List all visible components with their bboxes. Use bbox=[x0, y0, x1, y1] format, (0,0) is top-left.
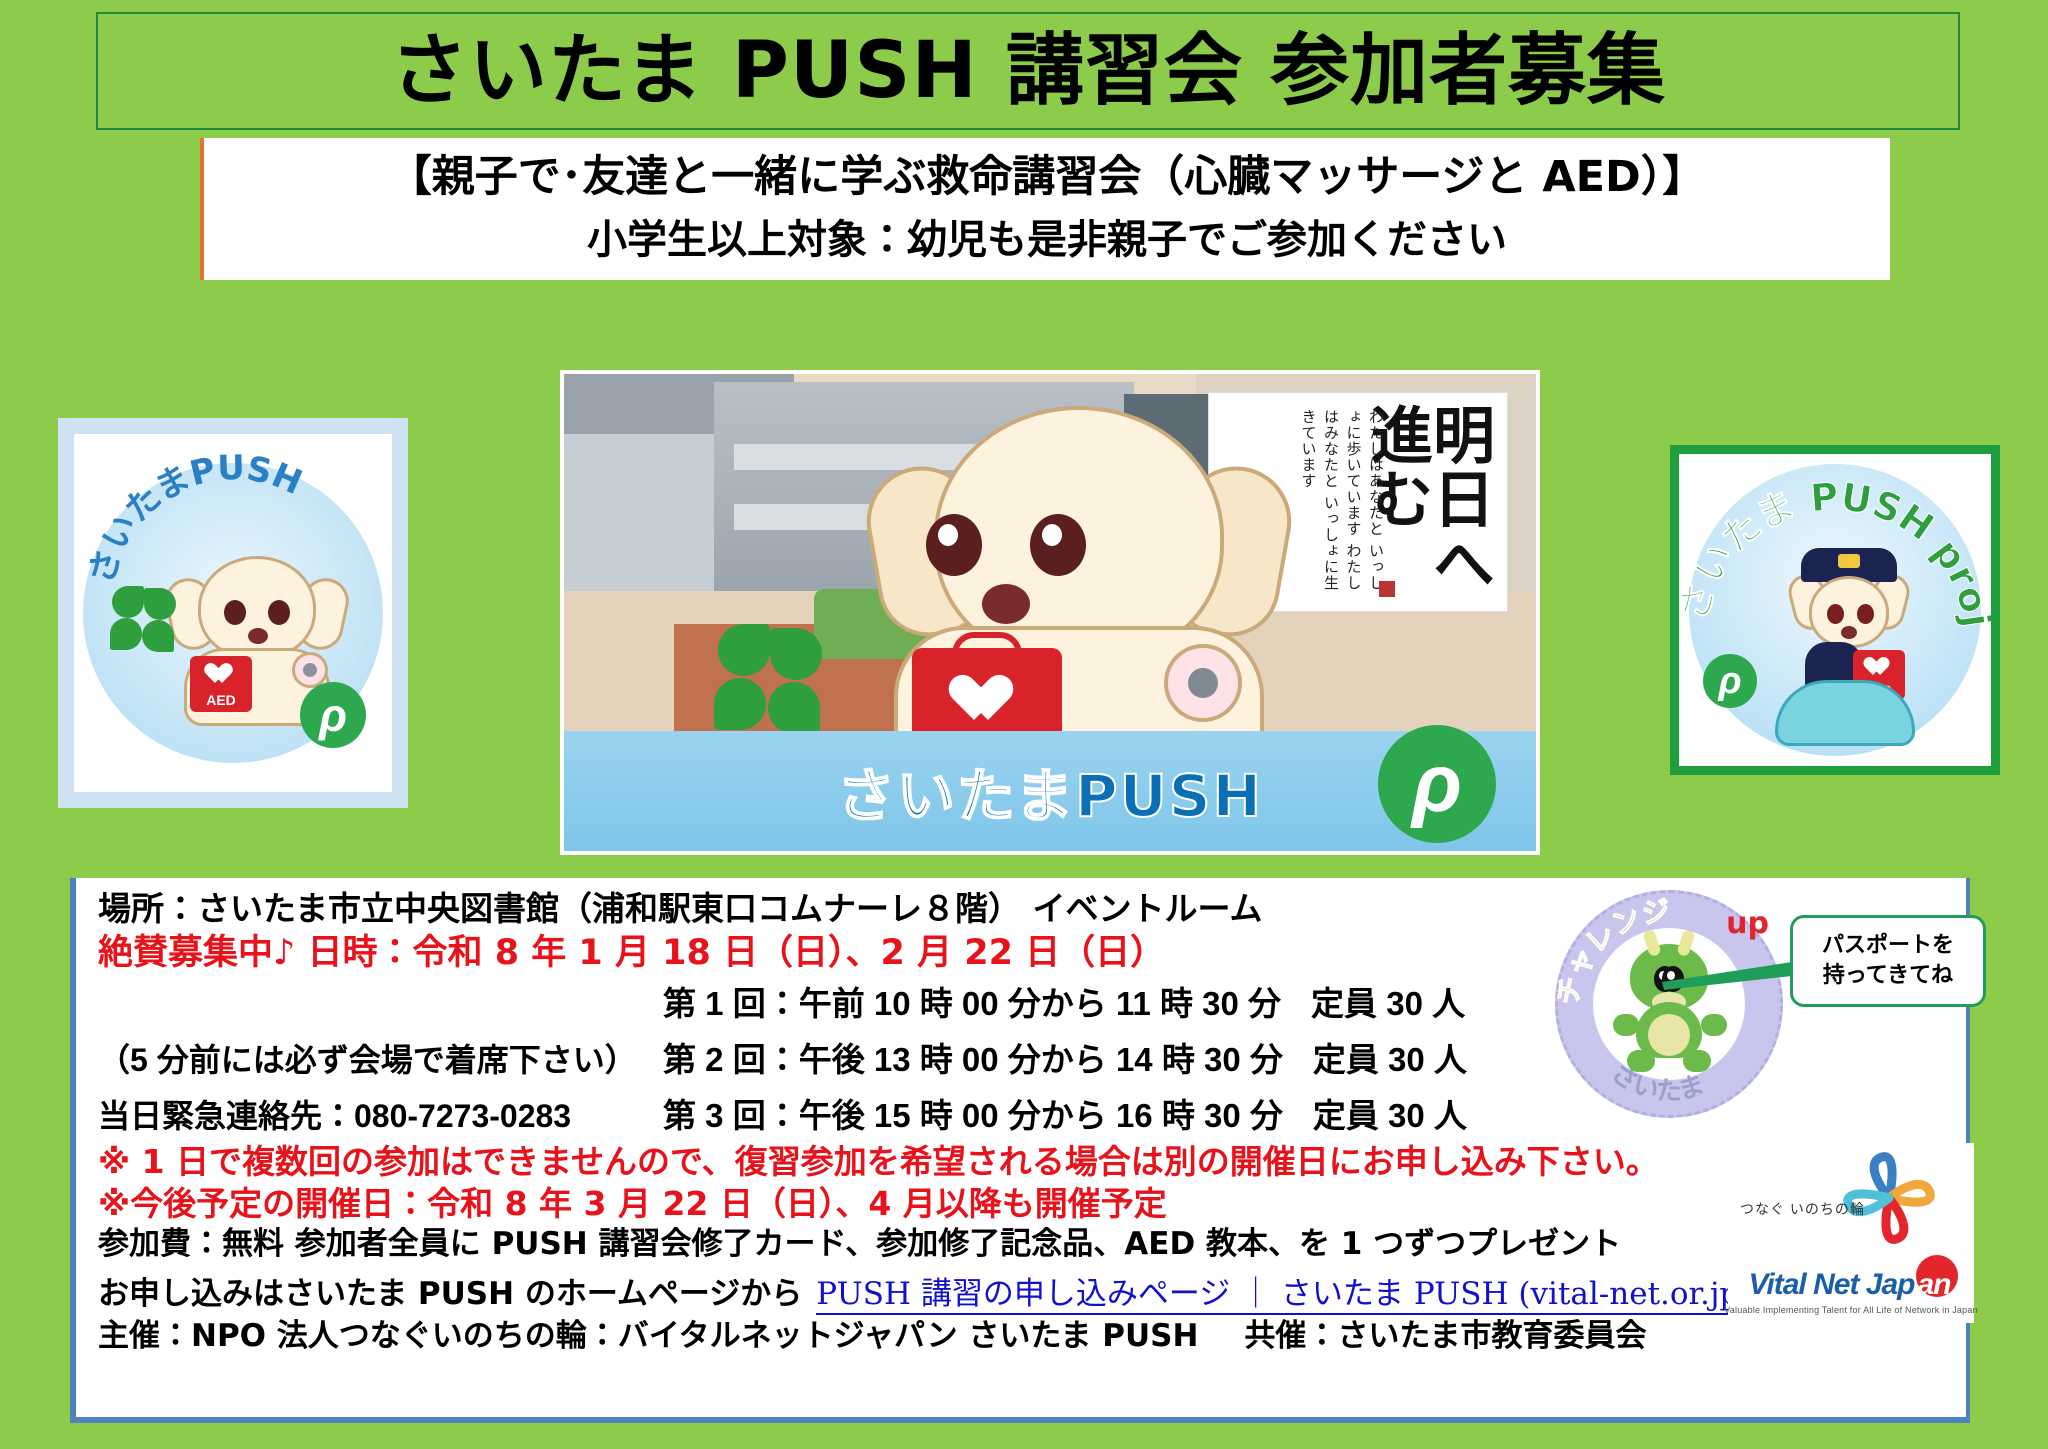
warning-line-2: ※今後予定の開催日：令和 8 年 3 月 22 日（日）、4 月以降も開催予定 bbox=[98, 1187, 1946, 1221]
push-p-logo-icon: ρ bbox=[1378, 725, 1496, 843]
dog-paw-icon bbox=[1164, 644, 1242, 722]
page-title: さいたま PUSH 講習会 参加者募集 bbox=[390, 32, 1666, 110]
dragon-figure bbox=[1609, 944, 1729, 1074]
subtitle-line-1: 【親子で･友達と一緒に学ぶ救命講習会（心臓マッサージと AED）】 bbox=[389, 151, 1705, 205]
vnj-name: Vital Net Japan bbox=[1749, 1268, 1954, 1302]
right-logo-card: さいたま PUSH project AED bbox=[1670, 445, 2000, 775]
dog-eye-left-icon bbox=[926, 514, 982, 576]
dog-eye-right-icon bbox=[1857, 604, 1874, 624]
apply-row: お申し込みはさいたま PUSH のホームページから PUSH 講習の申し込みペー… bbox=[98, 1268, 1946, 1315]
poster-root: { "poster": { "title": "さいたま PUSH 講習会 参加… bbox=[0, 0, 2048, 1449]
aed-box-icon: AED bbox=[190, 656, 252, 712]
session-left-note: （5 分前には必ず会場で着席下さい） bbox=[98, 1035, 663, 1081]
poster-title-bar: さいたま PUSH 講習会 参加者募集 bbox=[96, 12, 1960, 130]
left-logo-inner: さいたまPUSH AED bbox=[74, 434, 392, 792]
calligraphy-seal-icon bbox=[1379, 581, 1395, 597]
dog-head-icon bbox=[198, 556, 316, 660]
dog-eye-right-icon bbox=[1030, 514, 1086, 576]
center-dog-mascot-icon: AED bbox=[864, 396, 1294, 786]
saitama-dragon-mascot-icon: チャレンジ さいたま up bbox=[1555, 890, 1783, 1118]
vital-net-japan-logo-icon: つなぐ いのちの輪 Vital Net Japan Valuable Imple… bbox=[1728, 1143, 1974, 1323]
dragon-arc-up-accent: up bbox=[1726, 906, 1769, 941]
push-p-logo-icon: ρ bbox=[1703, 654, 1757, 708]
calligraphy-sub-text: わたしはあなたと いっしょに歩いています わたしはみなたと いっしょに生きていま… bbox=[1297, 409, 1387, 594]
fee-line: 参加費：無料 参加者全員に PUSH 講習会修了カード、参加修了記念品、AED … bbox=[98, 1229, 1946, 1261]
dragon-arm-left-icon bbox=[1613, 1014, 1639, 1036]
vnj-name-main: Vital Net Jap bbox=[1749, 1268, 1915, 1301]
apply-prefix: お申し込みはさいたま PUSH のホームページから bbox=[98, 1279, 802, 1311]
dog-eye-left-icon bbox=[1827, 604, 1844, 624]
organizer-row: 主催：NPO 法人つなぐいのちの輪：バイタルネットジャパン さいたま PUSH … bbox=[98, 1321, 1946, 1353]
poster-subtitle-box: 【親子で･友達と一緒に学ぶ救命講習会（心臓マッサージと AED）】 小学生以上対… bbox=[200, 138, 1890, 280]
session-time: 第 3 回：午後 15 時 00 分から 16 時 30 分 bbox=[663, 1089, 1283, 1137]
callout-line-2: 持ってきてね bbox=[1823, 961, 1953, 991]
emergency-contact: 当日緊急連絡先：080-7273-0283 bbox=[98, 1091, 663, 1137]
coorganizer-text: 共催：さいたま市教育委員会 bbox=[1244, 1321, 1646, 1353]
vnj-name-accent: an bbox=[1914, 1268, 1953, 1301]
shinkansen-icon bbox=[1775, 680, 1915, 746]
dragon-arm-right-icon bbox=[1701, 1014, 1727, 1036]
dragon-leg-left-icon bbox=[1627, 1050, 1655, 1072]
vnj-subtitle: Valuable Implementing Talent for All Lif… bbox=[1724, 1305, 1978, 1315]
dragon-eye-right-icon bbox=[1662, 966, 1684, 992]
dragon-belly-icon bbox=[1648, 1014, 1690, 1056]
session-time: 第 1 回：午前 10 時 00 分から 11 時 30 分 bbox=[663, 977, 1281, 1025]
vnj-clover-icon bbox=[1838, 1149, 1940, 1247]
subtitle-line-2: 小学生以上対象：幼児も是非親子でご参加ください bbox=[587, 213, 1507, 267]
clover-icon bbox=[714, 624, 834, 744]
push-p-logo-icon: ρ bbox=[300, 682, 366, 748]
aed-handle-icon bbox=[952, 632, 1022, 654]
clover-icon bbox=[110, 586, 180, 656]
dog-nose-icon bbox=[982, 584, 1030, 624]
session-capacity: 定員 30 人 bbox=[1313, 1033, 1467, 1081]
center-photo: 明日へ進む わたしはあなたと いっしょに歩いています わたしはみなたと いっしょ… bbox=[560, 370, 1540, 855]
vnj-tagline: つなぐ いのちの輪 bbox=[1740, 1199, 1865, 1219]
dog-eye-right-icon bbox=[268, 600, 290, 625]
left-badge-aed-label: AED bbox=[190, 692, 252, 708]
photo-banner-text: さいたまPUSH bbox=[837, 749, 1263, 833]
warning-block: ※ 1 日で複数回の参加はできませんので、復習参加を希望される場合は別の開催日に… bbox=[98, 1145, 1946, 1220]
dog-eye-left-icon bbox=[224, 600, 246, 625]
left-logo-card: さいたまPUSH AED bbox=[58, 418, 408, 808]
right-logo-inner: さいたま PUSH project AED bbox=[1679, 454, 1991, 766]
dragon-leg-right-icon bbox=[1683, 1050, 1711, 1072]
session-capacity: 定員 30 人 bbox=[1313, 1089, 1467, 1137]
apply-link[interactable]: PUSH 講習の申し込みページ ｜ さいたま PUSH (vital-net.o… bbox=[816, 1268, 1751, 1315]
session-capacity: 定員 30 人 bbox=[1311, 977, 1465, 1025]
photo-scene: 明日へ進む わたしはあなたと いっしょに歩いています わたしはみなたと いっしょ… bbox=[564, 374, 1536, 851]
session-time: 第 2 回：午後 13 時 00 分から 14 時 30 分 bbox=[663, 1033, 1283, 1081]
dragon-head-icon bbox=[1630, 944, 1708, 1010]
aed-heart-icon bbox=[960, 676, 1014, 726]
dog-nose-icon bbox=[248, 628, 268, 644]
push-p-letter: ρ bbox=[1412, 743, 1462, 825]
organizer-text: 主催：NPO 法人つなぐいのちの輪：バイタルネットジャパン さいたま PUSH bbox=[98, 1321, 1198, 1353]
warning-line-1: ※ 1 日で複数回の参加はできませんので、復習参加を希望される場合は別の開催日に… bbox=[98, 1145, 1946, 1179]
photo-banner: さいたまPUSH ρ bbox=[564, 731, 1536, 851]
passport-callout: パスポートを 持ってきてね bbox=[1790, 915, 1986, 1007]
dog-nose-icon bbox=[1841, 626, 1857, 639]
callout-line-1: パスポートを bbox=[1822, 931, 1954, 961]
